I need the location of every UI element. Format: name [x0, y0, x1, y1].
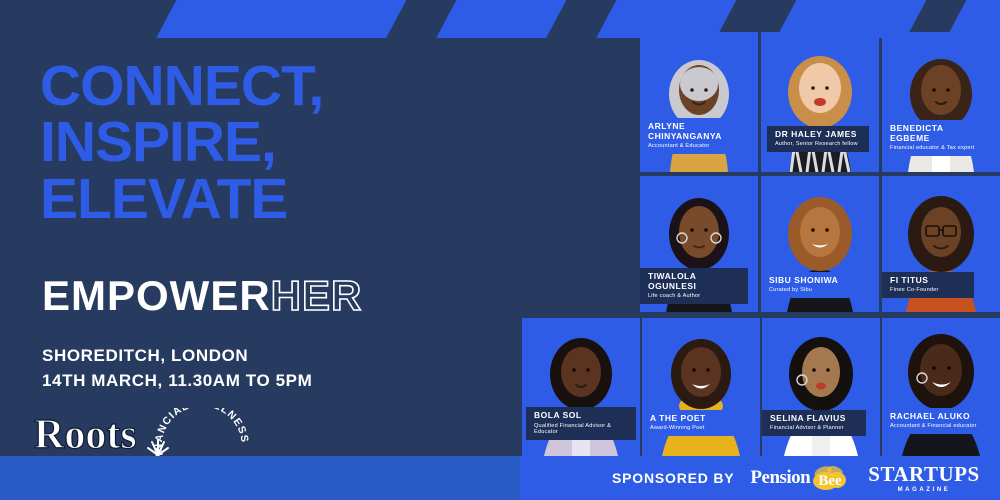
speaker-name: FI TITUS	[890, 276, 967, 286]
speaker-card[interactable]: FI TITUS Finee Co-Founder	[882, 176, 1000, 312]
speaker-name: A THE POET	[650, 414, 727, 424]
startups-wordmark: STARTUPS	[868, 464, 979, 485]
startups-subtitle: MAGAZINE	[868, 487, 979, 493]
sponsor-logo-startups[interactable]: STARTUPS MAGAZINE	[868, 464, 979, 493]
sponsored-by-label: SPONSORED BY	[612, 470, 734, 486]
bee-wordmark: Bee	[819, 473, 843, 489]
headline: CONNECT, INSPIRE, ELEVATE	[40, 58, 480, 227]
speaker-role: Curated by Sibu	[769, 287, 854, 293]
speaker-role: Qualified Financial Advisor & Educator	[534, 423, 629, 436]
speaker-role: Financial Advisor & Planner	[770, 425, 859, 431]
event-banner: CONNECT, INSPIRE, ELEVATE EMPOWERHER SHO…	[0, 0, 1000, 500]
speaker-card[interactable]: SIBU SHONIWA Curated by Sibu	[761, 176, 879, 312]
speaker-name-2: EGBEME	[890, 134, 987, 144]
speaker-name: RACHAEL ALUKO	[890, 412, 987, 422]
speaker-nameplate: SELINA FLAVIUS Financial Advisor & Plann…	[762, 410, 866, 436]
speaker-nameplate: ARLYNE CHINYANGANYA Accountant & Educato…	[640, 118, 744, 154]
speaker-role: Accountant & Financial educator	[890, 423, 987, 429]
sponsor-bar-left-fill	[0, 456, 520, 500]
event-title-empower: EMPOWER	[42, 272, 271, 319]
speaker-nameplate: BOLA SOL Qualified Financial Advisor & E…	[526, 407, 636, 440]
headline-line-2: INSPIRE,	[40, 114, 480, 170]
speaker-nameplate: SIBU SHONIWA Curated by Sibu	[761, 272, 861, 298]
speaker-nameplate: DR HALEY JAMES Author, Senior Research f…	[767, 126, 869, 152]
event-datetime: 14TH MARCH, 11.30AM TO 5PM	[42, 369, 312, 394]
event-title: EMPOWERHER	[42, 272, 362, 320]
speaker-nameplate: FI TITUS Finee Co-Founder	[882, 272, 974, 298]
headline-line-3: ELEVATE	[40, 171, 480, 227]
speaker-card[interactable]: RACHAEL ALUKO Accountant & Financial edu…	[882, 318, 1000, 456]
sponsor-bar: SPONSORED BY Pension Bee STARTUPS MAGAZI…	[520, 456, 1000, 500]
sponsor-logo-pensionbee[interactable]: Pension Bee	[750, 464, 852, 492]
speaker-portrait	[882, 318, 1000, 456]
speaker-card[interactable]: TIWALOLA OGUNLESI Life coach & Author	[640, 176, 758, 312]
speaker-nameplate: TIWALOLA OGUNLESI Life coach & Author	[640, 268, 748, 304]
event-title-her: HER	[271, 272, 363, 319]
speaker-card[interactable]: DR HALEY JAMES Author, Senior Research f…	[761, 32, 879, 172]
speaker-role: Finee Co-Founder	[890, 287, 967, 293]
pensionbee-wordmark: Pension	[750, 467, 810, 489]
speaker-card[interactable]: BENEDICTA EGBEME Financial educator & Ta…	[882, 32, 1000, 172]
speaker-name: DR HALEY JAMES	[775, 130, 862, 140]
speaker-nameplate: BENEDICTA EGBEME Financial educator & Ta…	[882, 120, 994, 156]
speaker-name: BOLA SOL	[534, 411, 629, 421]
bee-icon: Bee	[810, 464, 852, 492]
headline-line-1: CONNECT,	[40, 58, 480, 114]
event-details: SHOREDITCH, LONDON 14TH MARCH, 11.30AM T…	[42, 344, 312, 393]
speaker-role: Life coach & Author	[648, 293, 741, 299]
speaker-card[interactable]: A THE POET Award-Winning Poet	[642, 318, 760, 456]
speaker-role: Author, Senior Research fellow	[775, 141, 862, 147]
speaker-card[interactable]: ARLYNE CHINYANGANYA Accountant & Educato…	[640, 32, 758, 172]
speaker-role: Accountant & Educator	[648, 143, 737, 149]
speaker-grid: ARLYNE CHINYANGANYA Accountant & Educato…	[520, 0, 1000, 456]
speaker-nameplate: RACHAEL ALUKO Accountant & Financial edu…	[882, 408, 994, 434]
speaker-role: Award-Winning Poet	[650, 425, 727, 431]
speaker-name: SELINA FLAVIUS	[770, 414, 859, 424]
speaker-name: SIBU SHONIWA	[769, 276, 854, 286]
speaker-card[interactable]: SELINA FLAVIUS Financial Advisor & Plann…	[762, 318, 880, 456]
speaker-name-2: CHINYANGANYA	[648, 132, 737, 142]
left-content-column: CONNECT, INSPIRE, ELEVATE EMPOWERHER SHO…	[0, 0, 520, 500]
speaker-role: Financial educator & Tax expert	[890, 145, 987, 151]
speaker-nameplate: A THE POET Award-Winning Poet	[642, 410, 734, 436]
speaker-name-2: OGUNLESI	[648, 282, 741, 292]
speaker-card[interactable]: BOLA SOL Qualified Financial Advisor & E…	[522, 318, 640, 456]
event-location: SHOREDITCH, LONDON	[42, 344, 312, 369]
